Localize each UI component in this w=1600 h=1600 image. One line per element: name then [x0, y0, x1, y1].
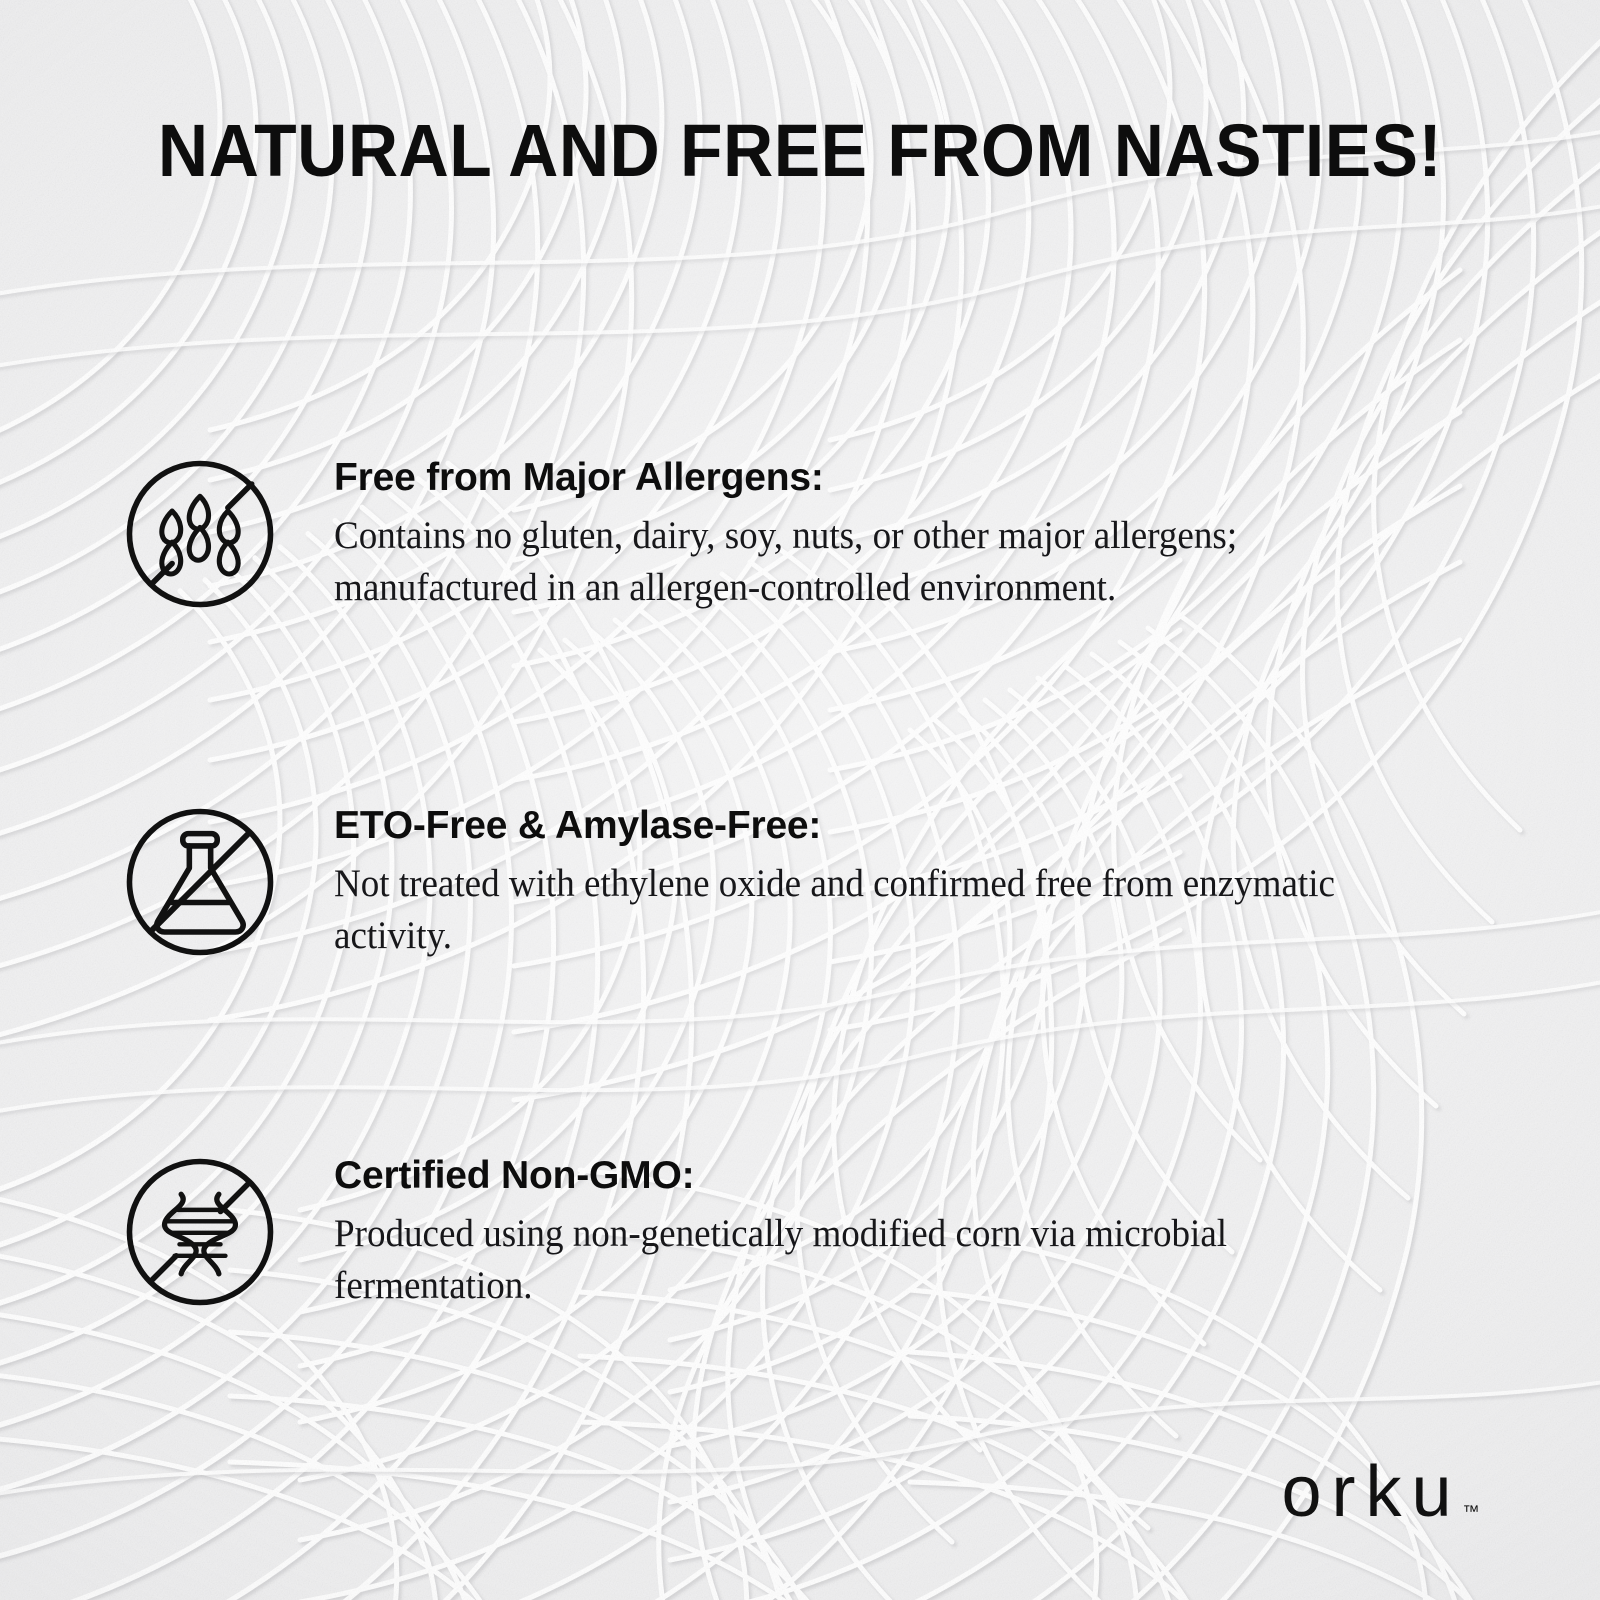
feature-text-block: ETO-Free & Amylase-Free: Not treated wit…: [334, 800, 1478, 962]
poster-canvas: NATURAL AND FREE FROM NASTIES!: [0, 0, 1600, 1600]
no-gluten-grain-icon: [118, 452, 282, 616]
brand-logo: orku ™: [1281, 1456, 1480, 1528]
feature-description: Contains no gluten, dairy, soy, nuts, or…: [334, 510, 1389, 615]
feature-text-block: Certified Non-GMO: Produced using non-ge…: [334, 1150, 1478, 1312]
feature-title: Free from Major Allergens:: [334, 456, 1478, 500]
feature-title: ETO-Free & Amylase-Free:: [334, 804, 1478, 848]
feature-description: Not treated with ethylene oxide and conf…: [334, 858, 1389, 963]
feature-title: Certified Non-GMO:: [334, 1154, 1478, 1198]
no-gmo-dna-icon: [118, 1150, 282, 1314]
no-chemical-flask-icon: [118, 800, 282, 964]
logo-wordmark: orku: [1281, 1456, 1461, 1528]
feature-item-allergens: Free from Major Allergens: Contains no g…: [118, 452, 1478, 616]
feature-item-non-gmo: Certified Non-GMO: Produced using non-ge…: [118, 1150, 1478, 1314]
page-title: NATURAL AND FREE FROM NASTIES!: [48, 108, 1552, 193]
poster-content: NATURAL AND FREE FROM NASTIES!: [0, 0, 1600, 1600]
feature-text-block: Free from Major Allergens: Contains no g…: [334, 452, 1478, 614]
feature-item-eto-amylase: ETO-Free & Amylase-Free: Not treated wit…: [118, 800, 1478, 964]
feature-description: Produced using non-genetically modified …: [334, 1208, 1389, 1313]
trademark-symbol: ™: [1463, 1502, 1481, 1522]
